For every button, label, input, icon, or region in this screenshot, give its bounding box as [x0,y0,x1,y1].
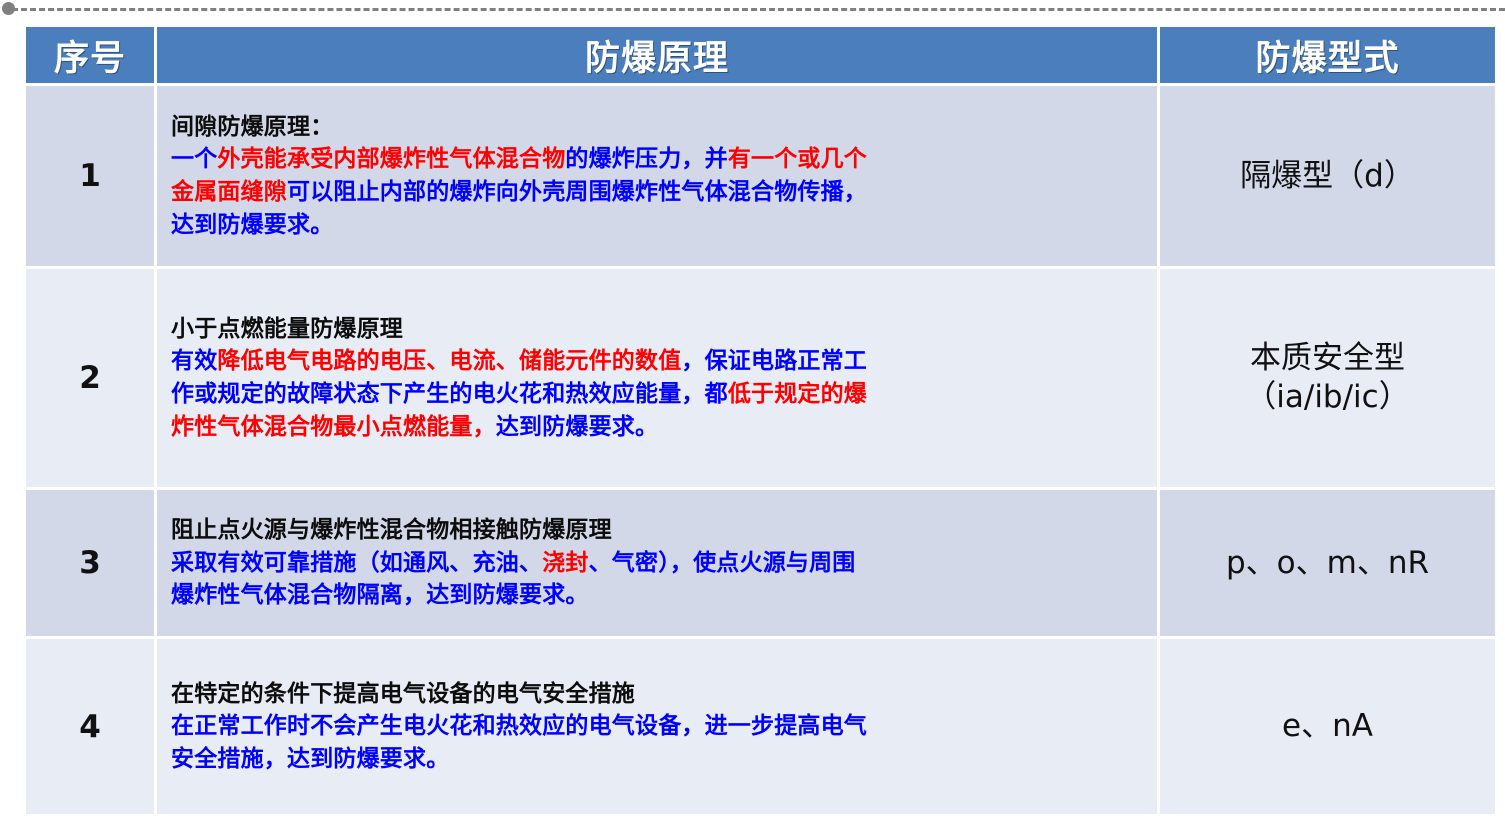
principle-title: 小于点燃能量防爆原理 [171,313,1157,346]
principle-line: 在正常工作时不会产生电火花和热效应的电气设备，进一步提高电气 [171,710,1157,743]
principle-line: 采取有效可靠措施（如通风、充油、浇封、气密），使点火源与周围 [171,547,1157,580]
text-run: 金属面缝隙 [171,179,287,205]
row-type: e、nA [1160,639,1495,814]
table-row: 3 阻止点火源与爆炸性混合物相接触防爆原理 采取有效可靠措施（如通风、充油、浇封… [26,490,1495,636]
table-row: 4 在特定的条件下提高电气设备的电气安全措施 在正常工作时不会产生电火花和热效应… [26,639,1495,814]
principle-line: 达到防爆要求。 [171,209,1157,242]
principle-title: 间隙防爆原理： [171,111,1157,144]
row-principle: 在特定的条件下提高电气设备的电气安全措施 在正常工作时不会产生电火花和热效应的电… [157,639,1157,814]
type-line: （ia/ib/ic） [1160,378,1495,417]
row-index: 3 [26,490,154,636]
row-principle: 小于点燃能量防爆原理 有效降低电气电路的电压、电流、储能元件的数值，保证电路正常… [157,269,1157,487]
slide-canvas: 序号 防爆原理 防爆型式 1 间隙防爆原理： 一个外壳能承受内部爆炸性气体混合物… [0,0,1505,758]
type-line: p、o、m、nR [1160,544,1495,583]
text-run: 有一个或几个 [728,146,867,172]
dashed-guide-line [12,8,1505,11]
principle-line: 一个外壳能承受内部爆炸性气体混合物的爆炸压力，并有一个或几个 [171,143,1157,176]
table-row: 1 间隙防爆原理： 一个外壳能承受内部爆炸性气体混合物的爆炸压力，并有一个或几个… [26,86,1495,266]
principle-line: 作或规定的故障状态下产生的电火花和热效应能量，都低于规定的爆 [171,378,1157,411]
row-principle: 间隙防爆原理： 一个外壳能承受内部爆炸性气体混合物的爆炸压力，并有一个或几个 金… [157,86,1157,266]
drag-handle-dot[interactable] [2,2,15,15]
column-header-type: 防爆型式 [1160,27,1495,83]
row-index: 4 [26,639,154,814]
row-type: 隔爆型（d） [1160,86,1495,266]
type-line: 隔爆型（d） [1160,157,1495,196]
principle-line: 爆炸性气体混合物隔离，达到防爆要求。 [171,579,1157,612]
text-run: 的爆炸压力，并 [565,146,727,172]
column-header-principle: 防爆原理 [157,27,1157,83]
text-run: 降低电气电路的电压、电流、储能元件的数值 [217,348,681,374]
principle-line: 安全措施，达到防爆要求。 [171,743,1157,776]
principle-line: 金属面缝隙可以阻止内部的爆炸向外壳周围爆炸性气体混合物传播， [171,176,1157,209]
principle-title: 在特定的条件下提高电气设备的电气安全措施 [171,678,1157,711]
table-row: 2 小于点燃能量防爆原理 有效降低电气电路的电压、电流、储能元件的数值，保证电路… [26,269,1495,487]
type-line: e、nA [1160,707,1495,746]
principle-line: 炸性气体混合物最小点燃能量，达到防爆要求。 [171,411,1157,444]
text-run: 达到防爆要求。 [496,414,658,440]
text-run: 在正常工作时不会产生电火花和热效应的电气设备，进一步提高电气 [171,713,867,739]
text-run: 达到防爆要求。 [171,212,333,238]
text-run: 有效 [171,348,217,374]
text-run: 作或规定的故障状态下产生的电火花和热效应能量，都 [171,381,728,407]
principle-title: 阻止点火源与爆炸性混合物相接触防爆原理 [171,514,1157,547]
text-run: 外壳能承受内部爆炸性气体混合物 [217,146,565,172]
text-run: 爆炸性气体混合物隔离，达到防爆要求。 [171,582,589,608]
text-run: 炸性气体混合物最小点燃能量， [171,414,496,440]
row-type: p、o、m、nR [1160,490,1495,636]
text-run: 浇封 [542,550,588,576]
text-run: 可以阻止内部的爆炸向外壳周围爆炸性气体混合物传播， [287,179,867,205]
row-type: 本质安全型 （ia/ib/ic） [1160,269,1495,487]
table-header-row: 序号 防爆原理 防爆型式 [26,27,1495,83]
text-run: 、气密），使点火源与周围 [589,550,856,576]
text-run: 一个 [171,146,217,172]
text-run: ，保证电路正常工 [681,348,867,374]
text-run: 采取有效可靠措施（如通风、充油、 [171,550,542,576]
explosion-proof-principles-table: 序号 防爆原理 防爆型式 1 间隙防爆原理： 一个外壳能承受内部爆炸性气体混合物… [23,24,1498,817]
principle-line: 有效降低电气电路的电压、电流、储能元件的数值，保证电路正常工 [171,345,1157,378]
text-run: 低于规定的爆 [728,381,867,407]
row-index: 1 [26,86,154,266]
column-header-index: 序号 [26,27,154,83]
type-line: 本质安全型 [1160,339,1495,378]
row-principle: 阻止点火源与爆炸性混合物相接触防爆原理 采取有效可靠措施（如通风、充油、浇封、气… [157,490,1157,636]
text-run: 安全措施，达到防爆要求。 [171,746,449,772]
row-index: 2 [26,269,154,487]
